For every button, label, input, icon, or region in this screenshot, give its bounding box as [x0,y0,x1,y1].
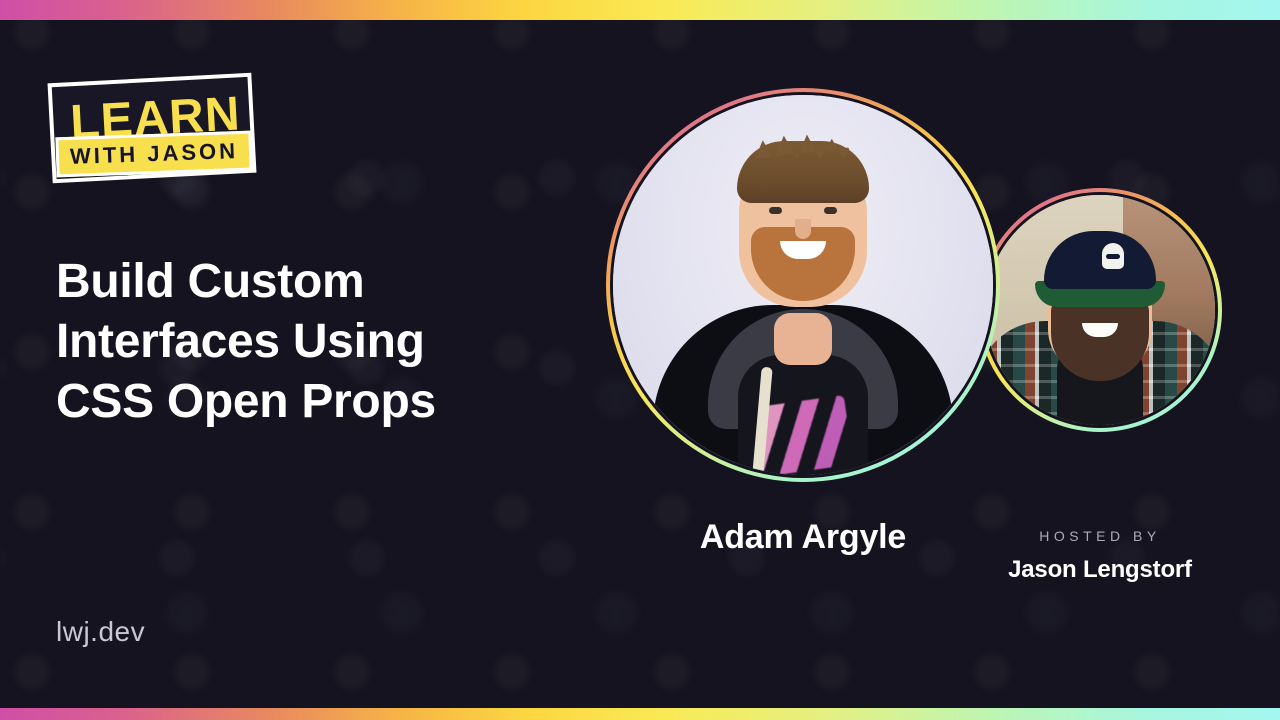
top-gradient-bar [0,0,1280,20]
guest-avatar-photo [613,95,993,475]
guest-eye-left [769,207,782,214]
host-credit-block: HOSTED BY Jason Lengstorf [978,528,1222,584]
guest-neck [774,313,832,365]
site-url: lwj.dev [56,616,145,648]
guest-eye-right [824,207,837,214]
host-name: Jason Lengstorf [978,556,1222,584]
learn-with-jason-logo[interactable]: LEARN WITH JASON [46,76,258,188]
host-avatar-photo [985,195,1215,425]
stream-title-card: LEARN WITH JASON Build Custom Interfaces… [0,0,1280,720]
logo-with-jason-text: WITH JASON [55,131,252,178]
logo-with-jason-bar: WITH JASON [55,131,252,178]
episode-title: Build Custom Interfaces Using CSS Open P… [56,252,526,432]
host-avatar [978,188,1222,432]
ghost-icon [1102,243,1124,269]
host-avatar-inner-ring [982,192,1218,428]
guest-avatar-inner-ring [610,92,996,478]
hosted-by-label: HOSTED BY [978,528,1222,544]
bottom-gradient-bar [0,708,1280,720]
guest-name: Adam Argyle [606,518,1000,557]
guest-nose [795,219,811,239]
guest-avatar [606,88,1000,482]
